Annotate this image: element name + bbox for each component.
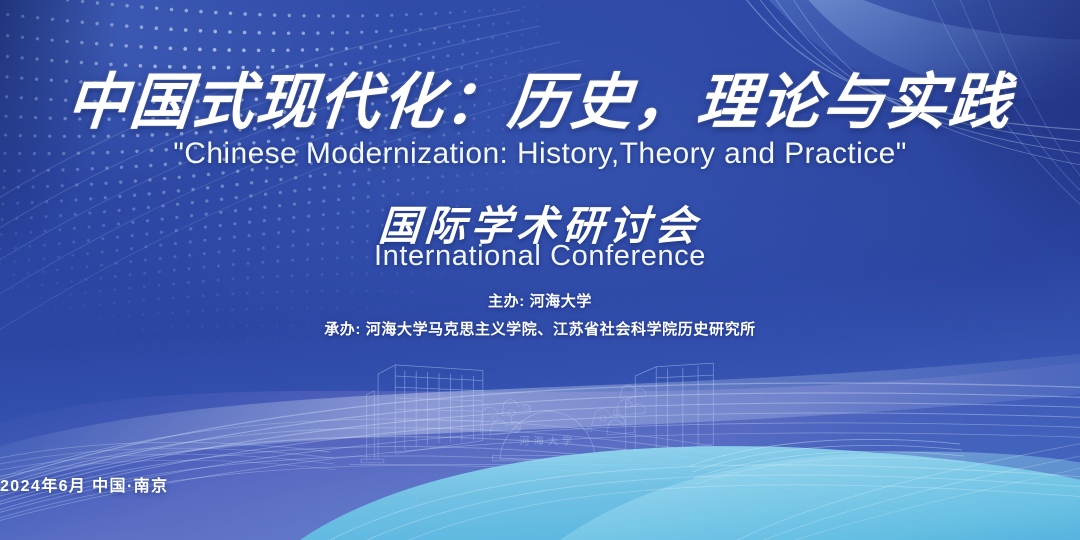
main-title-cn: 中国式现代化：历史，理论与实践 — [0, 52, 1080, 141]
subtitle-en: International Conference — [0, 240, 1080, 273]
date-location-line: 2024年6月 中国·南京 — [0, 472, 1080, 496]
cohost-organizer-line: 承办: 河海大学马克思主义学院、江苏省社会科学院历史研究所 — [0, 318, 1080, 339]
banner-content: 中国式现代化：历史，理论与实践 "Chinese Modernization: … — [0, 0, 1080, 540]
conference-banner: 河海大学 — [0, 0, 1080, 540]
host-organizer-line: 主办: 河海大学 — [0, 290, 1080, 311]
main-title-en: "Chinese Modernization: History,Theory a… — [0, 137, 1080, 171]
